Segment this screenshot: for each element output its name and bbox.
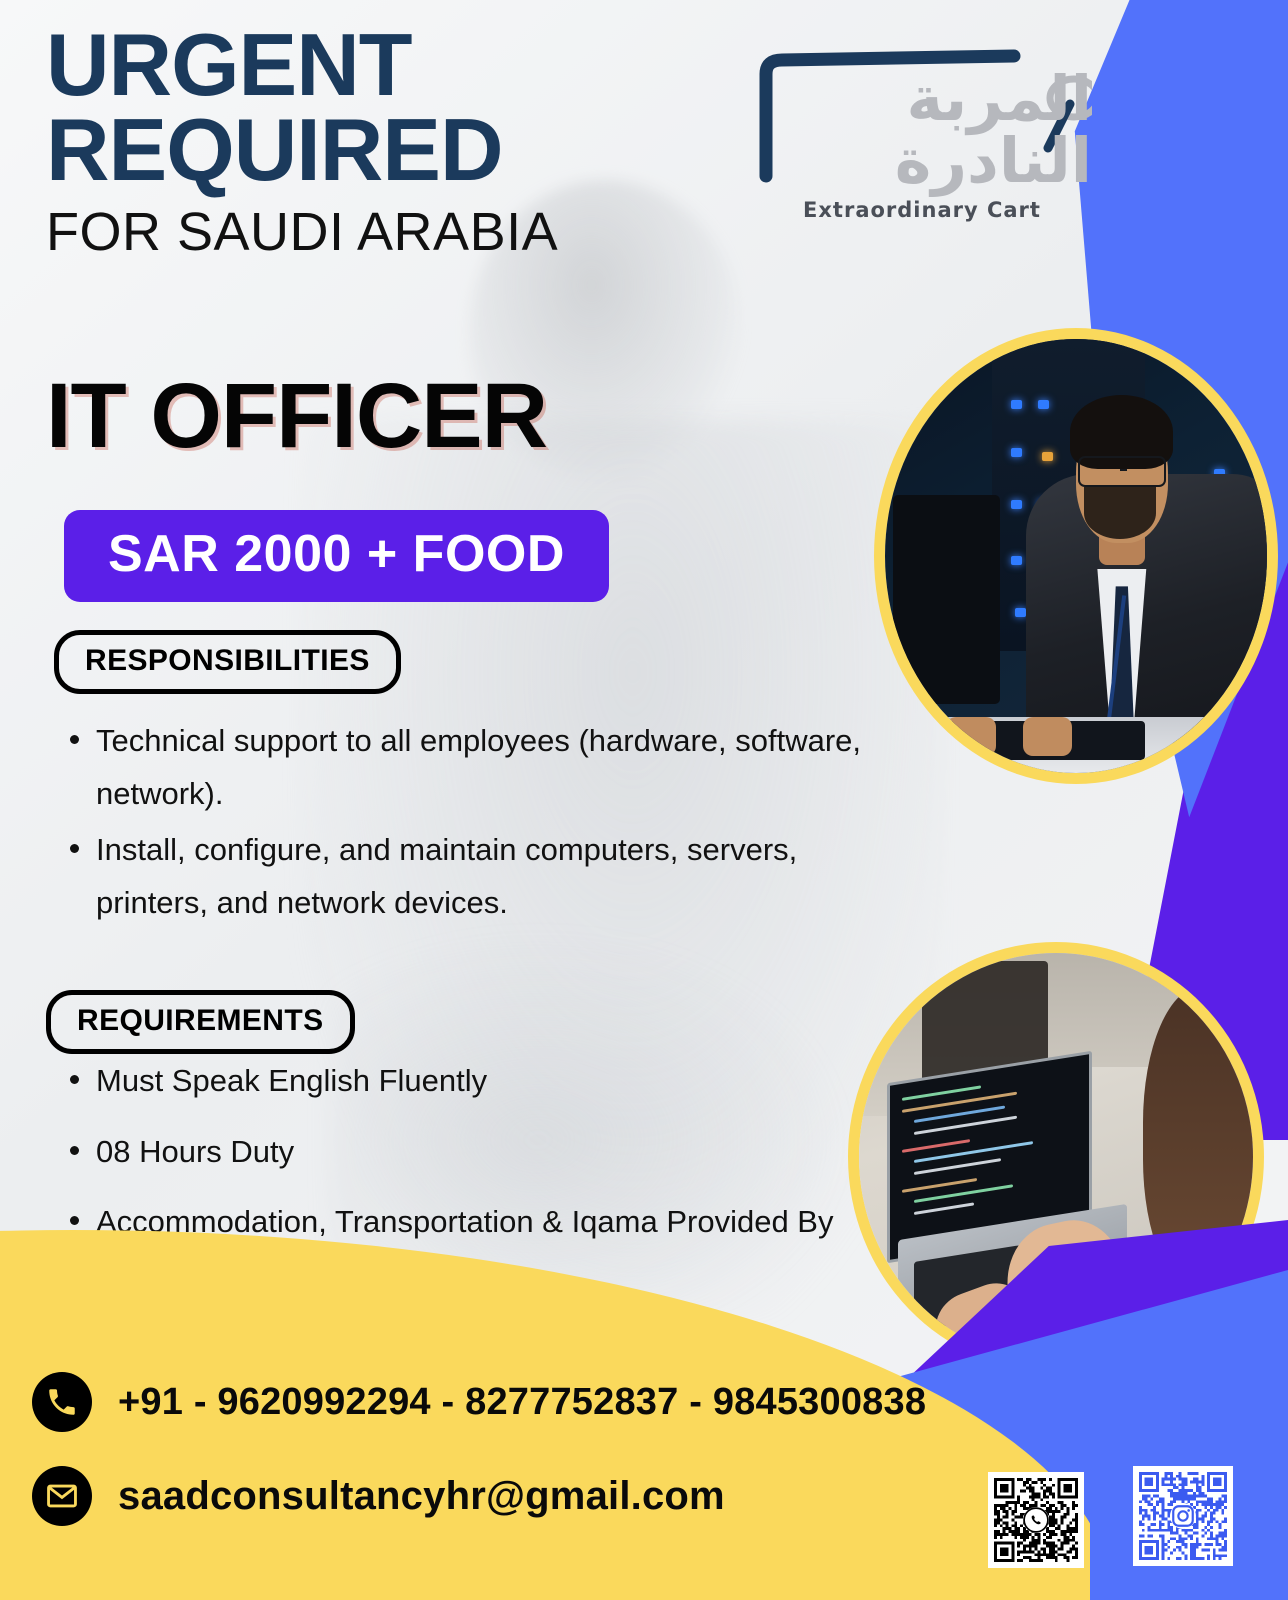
instagram-qr[interactable]: [1133, 1466, 1233, 1566]
list-item: Install, configure, and maintain compute…: [62, 824, 862, 929]
whatsapp-qr[interactable]: [988, 1472, 1084, 1568]
company-logo: المربة النادرة Extraordinary Cart: [752, 26, 1092, 236]
headline-subtitle: FOR SAUDI ARABIA: [46, 201, 746, 263]
contact-email[interactable]: saadconsultancyhr@gmail.com: [32, 1466, 725, 1526]
photo-it-officer-at-server-room: [874, 328, 1278, 784]
section-heading-responsibilities: RESPONSIBILITIES: [54, 630, 401, 694]
list-item: Technical support to all employees (hard…: [62, 715, 862, 820]
recruitment-poster: URGENT REQUIRED FOR SAUDI ARABIA المربة …: [0, 0, 1288, 1600]
contact-phone[interactable]: +91 - 9620992294 - 8277752837 - 98453008…: [32, 1372, 926, 1432]
job-title: IT OFFICER: [46, 370, 547, 462]
list-item: Must Speak English Fluently: [62, 1055, 852, 1108]
responsibilities-list: Technical support to all employees (hard…: [62, 715, 862, 934]
salary-badge: SAR 2000 + FOOD: [64, 510, 609, 602]
headline-line-2: REQUIRED: [46, 107, 746, 192]
logo-english-text: Extraordinary Cart: [752, 198, 1092, 222]
envelope-icon: [32, 1466, 92, 1526]
instagram-icon: [1170, 1503, 1196, 1529]
section-heading-requirements: REQUIREMENTS: [46, 990, 355, 1054]
list-item: 08 Hours Duty: [62, 1126, 852, 1179]
email-address-text: saadconsultancyhr@gmail.com: [118, 1474, 725, 1519]
phone-number-text: +91 - 9620992294 - 8277752837 - 98453008…: [118, 1381, 926, 1424]
phone-icon: [32, 1372, 92, 1432]
headline-line-1: URGENT: [46, 22, 746, 107]
logo-arabic-text: المربة النادرة: [752, 68, 1092, 192]
headline-block: URGENT REQUIRED FOR SAUDI ARABIA: [46, 22, 746, 263]
whatsapp-icon: [1023, 1507, 1049, 1533]
